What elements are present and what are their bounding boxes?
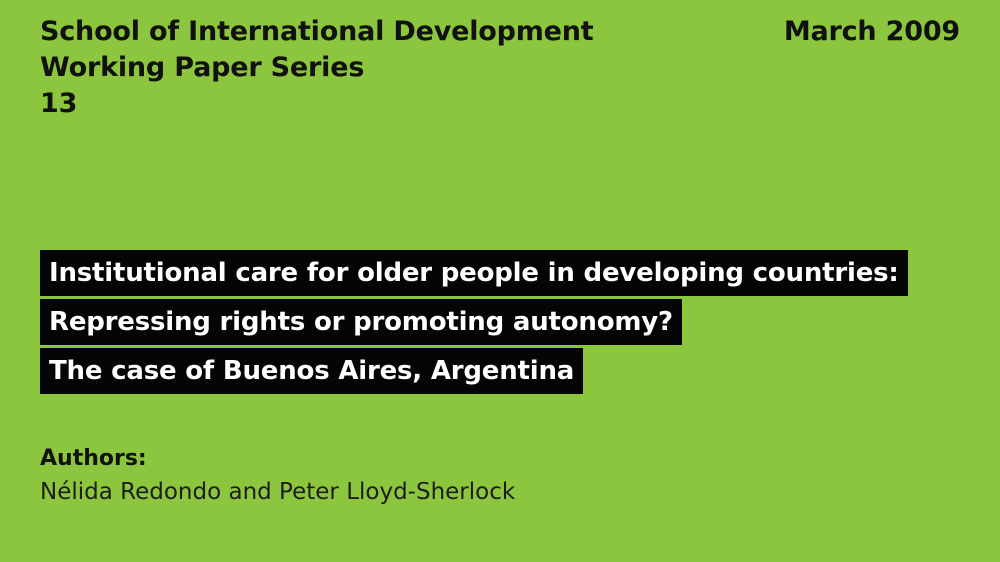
working-paper-cover: School of International Development Work…: [0, 0, 1000, 562]
authors-section: Authors: Nélida Redondo and Peter Lloyd-…: [40, 443, 740, 509]
authors-label: Authors:: [40, 443, 740, 475]
title-line-1: Institutional care for older people in d…: [40, 250, 908, 296]
series-title-line-2: Working Paper Series: [40, 50, 660, 86]
series-number: 13: [40, 86, 660, 122]
title-line-3: The case of Buenos Aires, Argentina: [40, 348, 583, 394]
header-series-info: School of International Development Work…: [40, 14, 660, 122]
paper-title: Institutional care for older people in d…: [40, 250, 970, 394]
title-line-2: Repressing rights or promoting autonomy?: [40, 299, 682, 345]
authors-names: Nélida Redondo and Peter Lloyd-Sherlock: [40, 475, 740, 509]
publication-date: March 2009: [784, 14, 960, 50]
series-title-line-1: School of International Development: [40, 14, 660, 50]
